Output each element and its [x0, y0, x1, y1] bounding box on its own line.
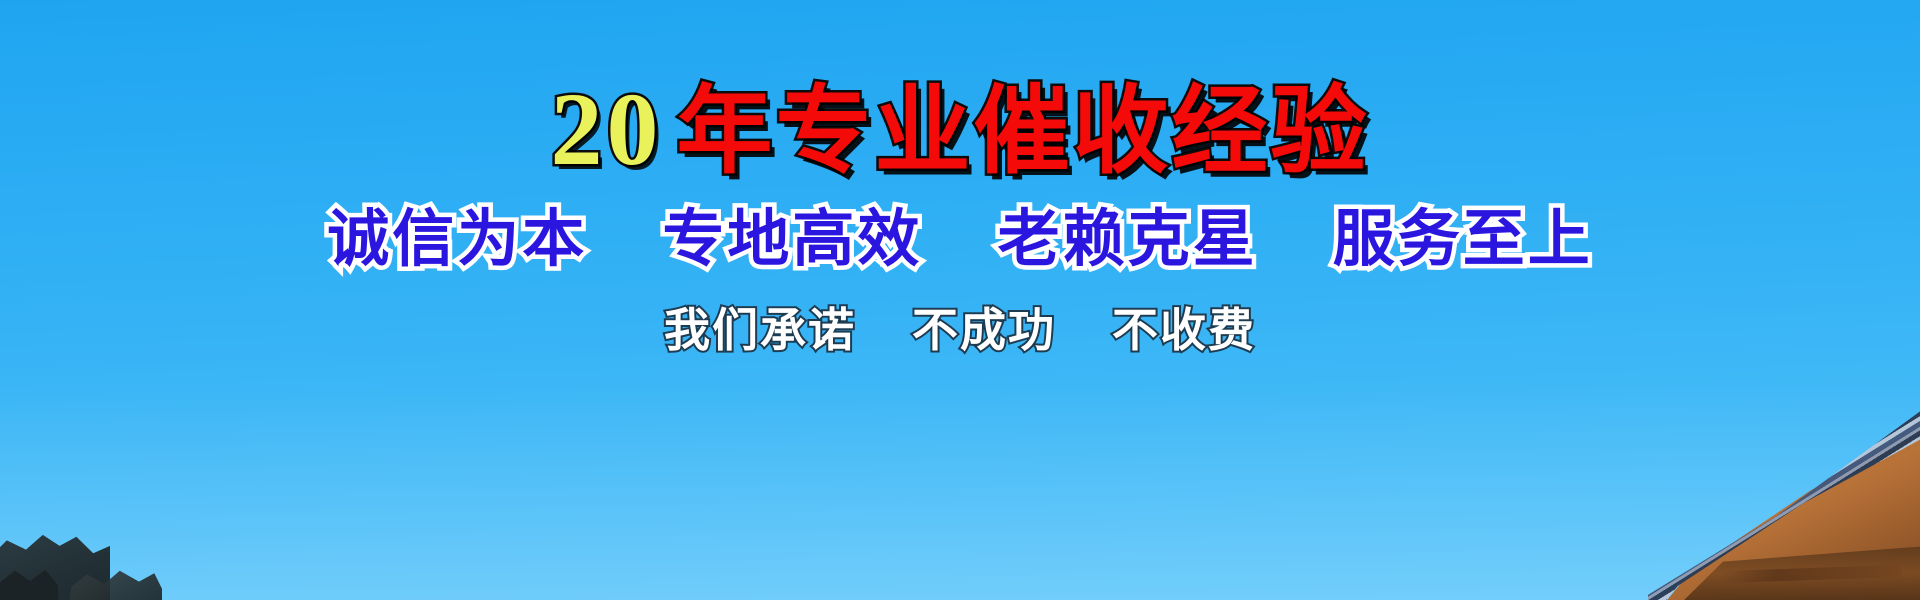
subline-phrase-1: 诚信为本: [327, 202, 587, 275]
banner-content: 20 年专业催收经验 诚信为本 专地高效 老赖克星 服务至上 我们承诺 不成功 …: [0, 0, 1920, 600]
tagline-phrase-3: 不收费: [1112, 303, 1256, 357]
subline-phrase-4: 服务至上: [1333, 202, 1593, 275]
subline-phrase-3: 老赖克星: [998, 202, 1258, 275]
headline-number: 20: [551, 78, 663, 182]
tagline-phrase-1: 我们承诺: [664, 303, 856, 357]
headline-text: 年专业催收经验: [677, 83, 1370, 179]
tagline-promise: 我们承诺 不成功 不收费: [664, 305, 1256, 356]
subline-slogans: 诚信为本 专地高效 老赖克星 服务至上: [327, 206, 1593, 271]
headline: 20 年专业催收经验: [551, 78, 1370, 182]
tagline-phrase-2: 不成功: [912, 303, 1056, 357]
promo-banner: 20 年专业催收经验 诚信为本 专地高效 老赖克星 服务至上 我们承诺 不成功 …: [0, 0, 1920, 600]
subline-phrase-2: 专地高效: [662, 202, 922, 275]
